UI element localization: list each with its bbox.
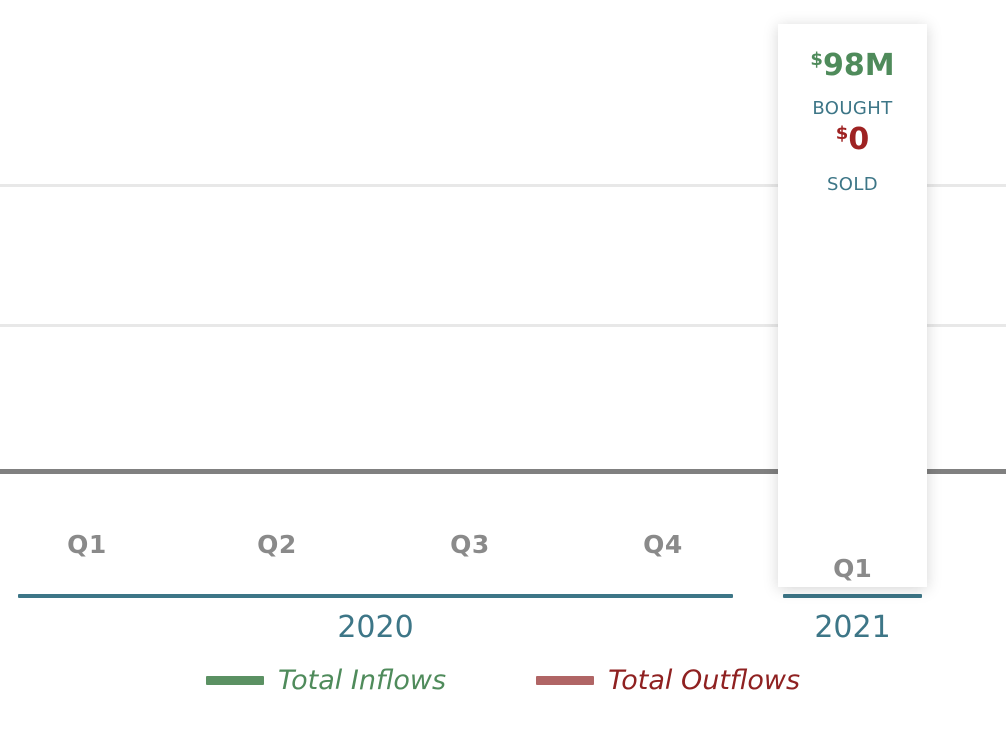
legend-swatch-outflows [536,676,594,685]
year-group-rule-2021 [783,594,922,598]
legend-item-total-inflows[interactable]: Total Inflows [206,665,446,696]
legend-swatch-inflows [206,676,264,685]
callout-sold-value: $0 [778,125,927,155]
x-tick-label-2020-q3: Q3 [425,530,515,559]
year-label-2021: 2021 [783,610,922,645]
x-tick-label-2020-q2: Q2 [232,530,322,559]
callout-sold-amount: 0 [848,122,869,157]
bar-chart: Q1 Q2 Q3 Q4 2020 2021 $98M BOUGHT $0 SOL… [0,0,1006,736]
callout-sold-caption: SOLD [778,174,927,195]
callout-bought-amount: 98M [823,48,895,83]
year-group-rule-2020 [18,594,733,598]
legend-label-outflows: Total Outflows [608,665,800,696]
callout-bought-caption: BOUGHT [778,98,927,119]
currency-symbol-bought: $ [810,49,823,70]
data-point-callout-card[interactable]: $98M BOUGHT $0 SOLD Q1 [778,24,927,587]
legend-item-total-outflows[interactable]: Total Outflows [536,665,800,696]
x-tick-label-2020-q4: Q4 [618,530,708,559]
currency-symbol-sold: $ [836,123,849,144]
callout-bought-value: $98M [778,51,927,81]
legend-label-inflows: Total Inflows [278,665,446,696]
x-tick-label-2021-q1: Q1 [778,554,927,583]
chart-legend: Total Inflows Total Outflows [0,665,1006,696]
year-label-2020: 2020 [18,610,733,645]
x-tick-label-2020-q1: Q1 [42,530,132,559]
